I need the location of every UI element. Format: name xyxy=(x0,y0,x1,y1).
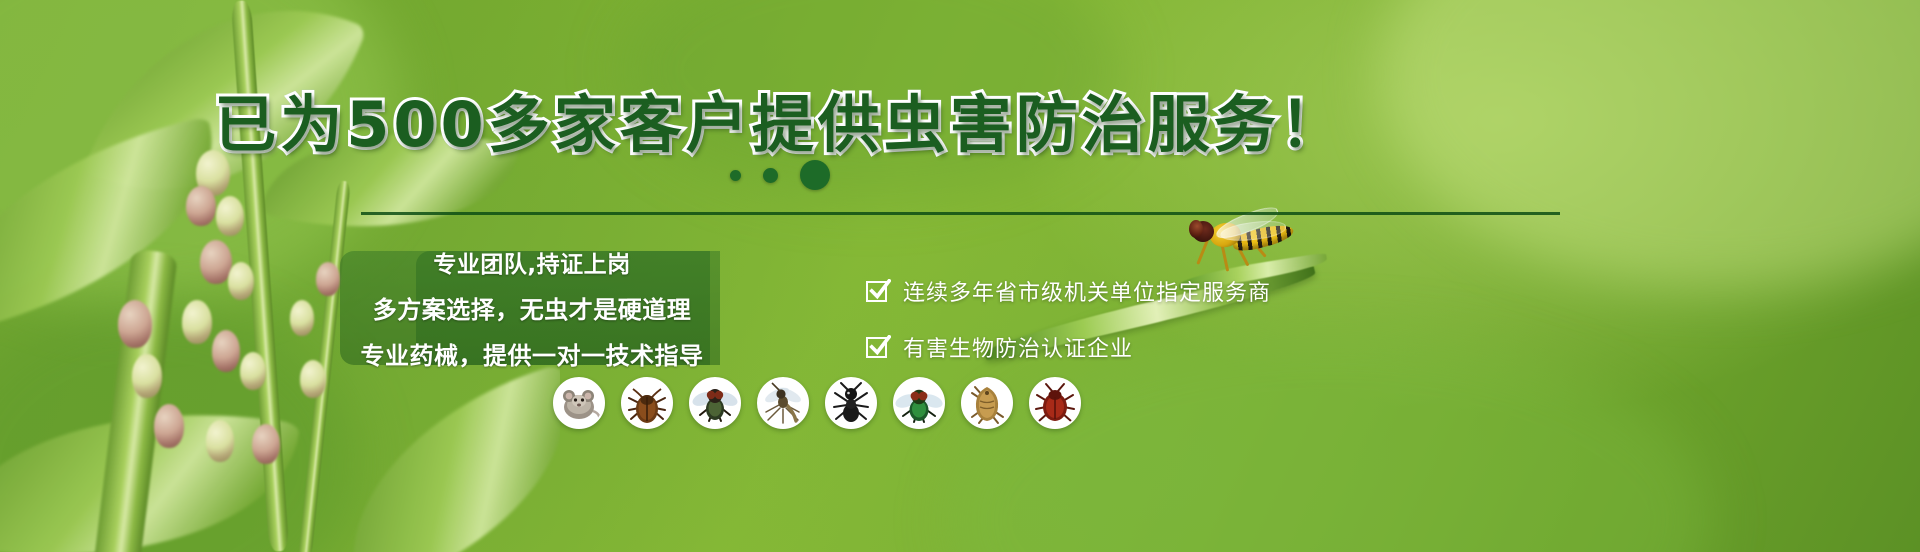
headline-text: 已为500多家客户提供虫害防治服务！ xyxy=(214,88,1345,161)
checkbox-checked-icon xyxy=(866,335,890,359)
page-title: 已为500多家客户提供虫害防治服务！ xyxy=(0,74,1560,164)
credentials-list: 连续多年省市级机关单位指定服务商 有害生物防治认证企业 xyxy=(866,275,1271,363)
pest-icon-blowfly[interactable] xyxy=(893,377,945,429)
dot-small xyxy=(730,170,741,181)
pest-icon-ant[interactable] xyxy=(825,377,877,429)
decorative-dots xyxy=(0,160,1560,190)
credential-label: 有害生物防治认证企业 xyxy=(903,331,1133,363)
feature-line-2: 多方案选择，无虫才是硬道理 xyxy=(373,290,692,325)
features-panel-text: 专业团队,持证上岗 多方案选择，无虫才是硬道理 专业药械，提供一对一技术指导 xyxy=(340,245,724,371)
divider-line xyxy=(361,212,1560,215)
credential-label: 连续多年省市级机关单位指定服务商 xyxy=(903,275,1271,307)
feature-line-1: 专业团队,持证上岗 xyxy=(433,245,630,279)
pest-icon-rodent[interactable] xyxy=(553,377,605,429)
hoverfly-icon xyxy=(1176,212,1304,274)
list-item: 连续多年省市级机关单位指定服务商 xyxy=(866,275,1271,307)
pest-icon-row xyxy=(553,377,1081,429)
dot-medium xyxy=(763,168,778,183)
promo-banner: 已为500多家客户提供虫害防治服务！ 专业团队,持证上岗 多方案选择，无虫才是硬… xyxy=(0,0,1920,552)
pest-icon-mosquito[interactable] xyxy=(757,377,809,429)
checkbox-checked-icon xyxy=(866,279,890,303)
feature-line-3: 专业药械，提供一对一技术指导 xyxy=(361,336,704,371)
pest-icon-cockroach[interactable] xyxy=(621,377,673,429)
list-item: 有害生物防治认证企业 xyxy=(866,331,1271,363)
pest-icon-fly[interactable] xyxy=(689,377,741,429)
pest-icon-flea[interactable] xyxy=(961,377,1013,429)
dot-large xyxy=(800,160,830,190)
pest-icon-bedbug[interactable] xyxy=(1029,377,1081,429)
